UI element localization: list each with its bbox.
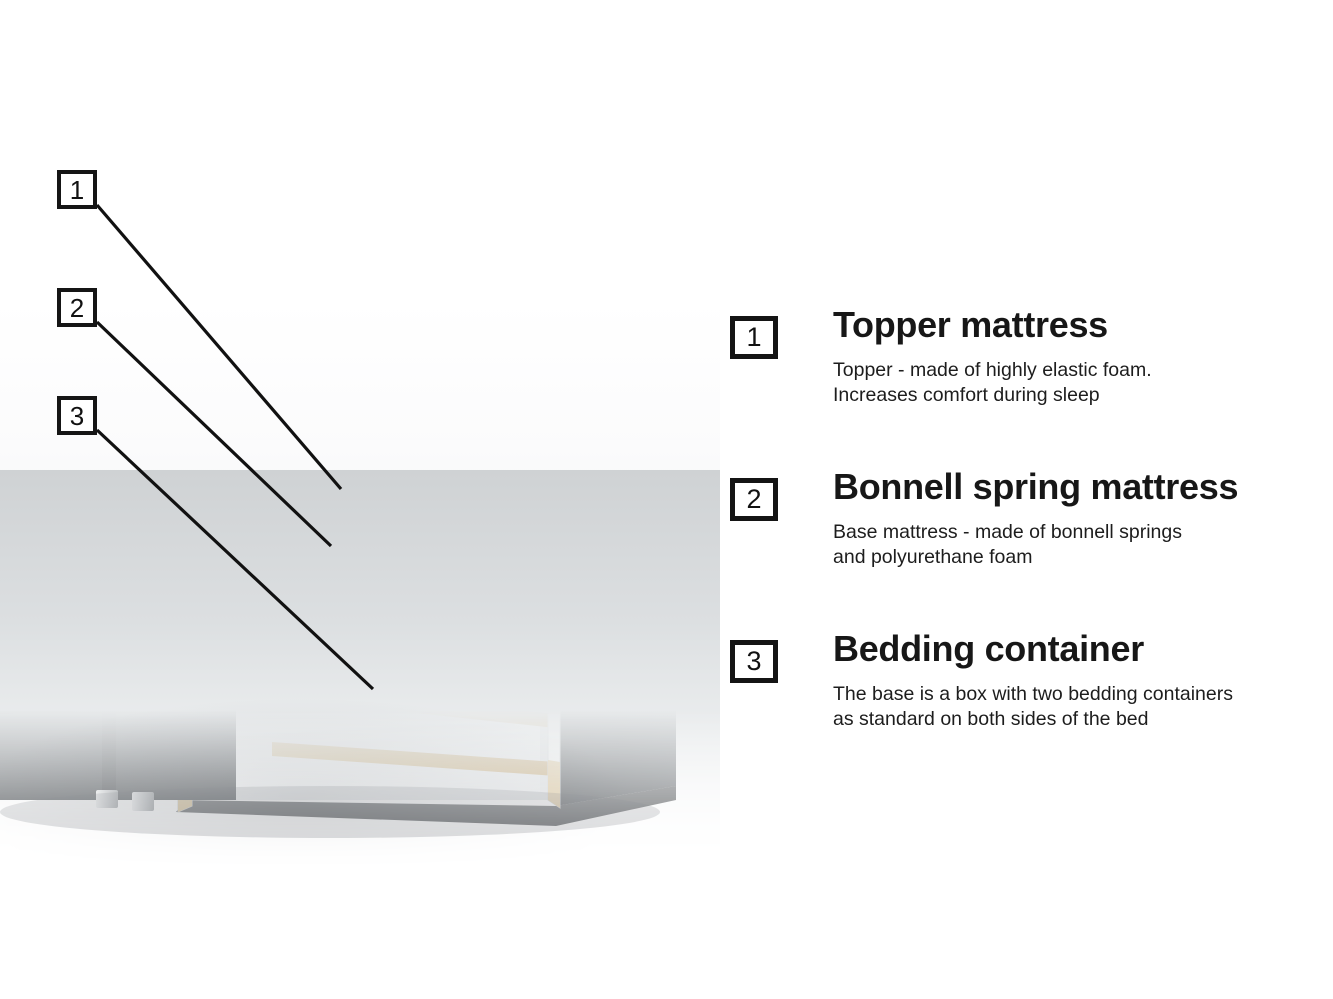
legend-desc-2-line2: and polyurethane foam (833, 545, 1182, 570)
legend-desc-2-line1: Base mattress - made of bonnell springs (833, 520, 1182, 545)
legend-desc-3-line1: The base is a box with two bedding conta… (833, 682, 1233, 707)
callout-box-3: 3 (57, 396, 97, 435)
legend-desc-1-line1: Topper - made of highly elastic foam. (833, 358, 1152, 383)
legend-item-topper-mattress: 1 Topper mattress Topper - made of highl… (725, 316, 1333, 478)
product-photo: 1 2 3 (0, 0, 720, 880)
legend-number-3: 3 (730, 640, 778, 683)
legend-number-2: 2 (730, 478, 778, 521)
legend-item-bonnell-spring-mattress: 2 Bonnell spring mattress Base mattress … (725, 478, 1333, 640)
callout-box-1: 1 (57, 170, 97, 209)
legend-desc-1-line2: Increases comfort during sleep (833, 383, 1152, 408)
callout-box-2: 2 (57, 288, 97, 327)
legend-desc-2: Base mattress - made of bonnell springs … (833, 520, 1182, 570)
legend-panel: 1 Topper mattress Topper - made of highl… (725, 316, 1333, 790)
legend-desc-3-line2: as standard on both sides of the bed (833, 707, 1233, 732)
legend-number-1: 1 (730, 316, 778, 359)
photo-floor-shadow (0, 470, 720, 870)
legend-desc-1: Topper - made of highly elastic foam. In… (833, 358, 1152, 408)
infographic-page: 1 2 3 1 Topper mattress Topper - made of… (0, 0, 1333, 999)
legend-title-3: Bedding container (833, 628, 1144, 670)
legend-item-bedding-container: 3 Bedding container The base is a box wi… (725, 640, 1333, 790)
legend-title-2: Bonnell spring mattress (833, 466, 1238, 508)
legend-title-1: Topper mattress (833, 304, 1108, 346)
legend-desc-3: The base is a box with two bedding conta… (833, 682, 1233, 732)
